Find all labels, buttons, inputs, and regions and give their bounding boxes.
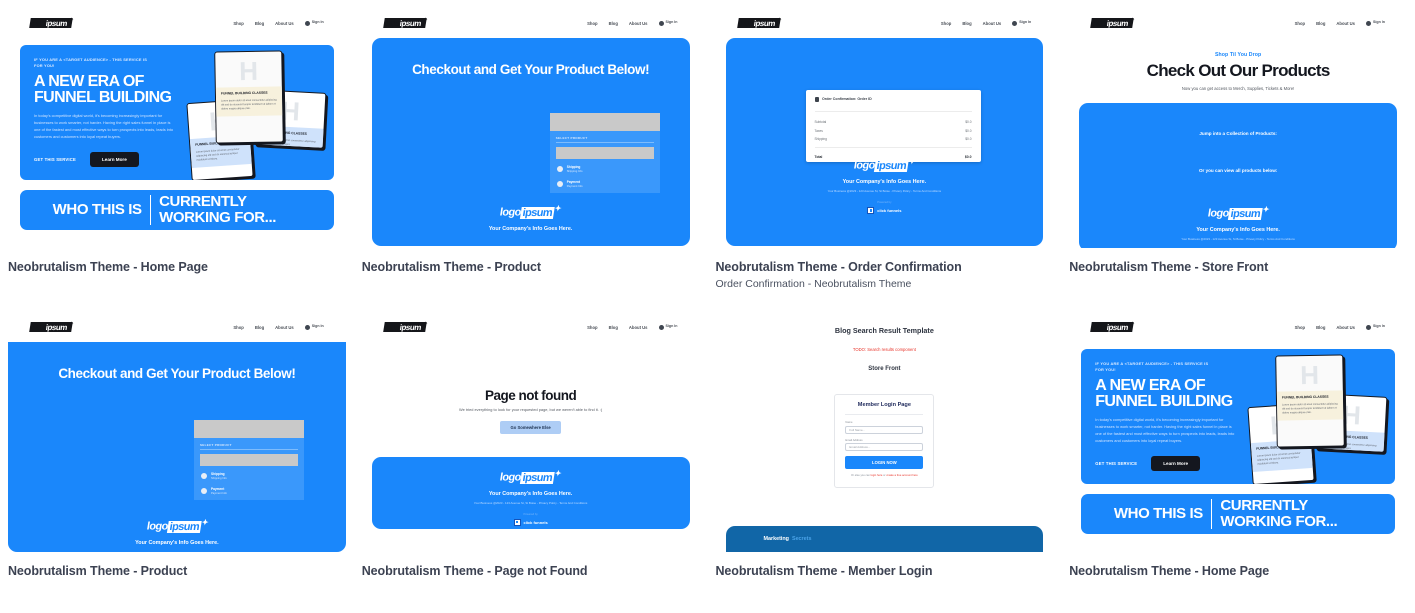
- nav-signin[interactable]: Sign In: [1366, 325, 1385, 330]
- mini-card-text: Lorem ipsum dolor sit amet consectetur a…: [221, 98, 277, 111]
- row-label: Shipping: [815, 137, 827, 141]
- store-eyebrow: Shop Til You Drop: [1069, 52, 1407, 58]
- footer-logo[interactable]: logoipsum✦: [726, 156, 1044, 174]
- logo-logoipsum[interactable]: logoipsum✦: [383, 322, 427, 332]
- footer-logo[interactable]: logoipsum✦: [1079, 204, 1397, 222]
- checkout-section: Checkout and Get Your Product Below! SEL…: [372, 38, 690, 246]
- product-select[interactable]: [200, 454, 298, 466]
- divider: [845, 414, 923, 415]
- nav-signin[interactable]: Sign In: [305, 21, 324, 26]
- band-left-text: WHO THIS IS: [1114, 506, 1211, 522]
- not-found-title: Page not found: [362, 388, 700, 403]
- user-icon: [659, 325, 664, 330]
- mini-card-text: Lorem ipsum dolor sit amet consectetur a…: [196, 147, 247, 162]
- nav-link-about-us[interactable]: About Us: [629, 21, 648, 26]
- checkout-step-payment[interactable]: Payment Payment Info: [201, 487, 304, 496]
- thumbnail-cell-page-not-found[interactable]: logoipsum✦ Shop Blog About Us Sign In: [354, 312, 708, 582]
- email-input[interactable]: Email Address...: [845, 443, 923, 451]
- footer-company-text: Your Company's Info Goes Here.: [372, 491, 690, 497]
- nav-link-blog[interactable]: Blog: [255, 21, 264, 26]
- mini-card-text: Lorem ipsum dolor sit amet consectetur a…: [1282, 402, 1338, 415]
- preview-store-front[interactable]: logoipsum✦ Shop Blog About Us Sign In: [1069, 8, 1407, 248]
- page-footer: logoipsum✦ Your Company's Info Goes Here…: [372, 457, 690, 529]
- mini-page: logoipsum✦ Shop Blog About Us Sign In: [8, 312, 346, 552]
- hero-cta-group: GET THIS SERVICE Learn More: [1095, 456, 1244, 471]
- receipt-icon: [815, 97, 820, 102]
- nav-link-blog[interactable]: Blog: [962, 21, 971, 26]
- user-icon: [1366, 325, 1371, 330]
- order-confirmation-section: Order Confirmation: Order ID Subtotal $0…: [726, 38, 1044, 246]
- table-row: Taxes $0.0: [815, 126, 972, 135]
- nav-link-blog[interactable]: Blog: [609, 325, 618, 330]
- powered-by-label: Powered by: [726, 201, 1044, 204]
- thumbnail-cell-member-login[interactable]: Blog Search Result Template TODO: Search…: [708, 312, 1062, 582]
- hero-copy: IF YOU ARE A <TARGET AUDIENCE> - THIS SE…: [1081, 349, 1244, 484]
- band-text-marketing: Marketing: [764, 536, 789, 542]
- nav-signin[interactable]: Sign In: [659, 21, 678, 26]
- band-left-text: WHO THIS IS: [53, 202, 150, 218]
- email-label: Email Address: [845, 439, 923, 442]
- row-label: Taxes: [815, 129, 823, 133]
- nav-link-blog[interactable]: Blog: [255, 325, 264, 330]
- caption-title: Neobrutalism Theme - Home Page: [8, 260, 346, 274]
- helper-pre: Or else you can: [851, 474, 871, 477]
- footer-legal-text: Your Business @2023 - 123 Avenue St, St …: [726, 189, 1044, 193]
- nav-signin-label: Sign In: [1373, 21, 1385, 25]
- thumbnail-cell-product-2[interactable]: logoipsum✦ Shop Blog About Us Sign In: [0, 312, 354, 582]
- store-products-section: Jump into a Collection of Products: Or y…: [1079, 103, 1397, 248]
- page-footer: logoipsum✦ Your Company's Info Goes Here…: [726, 156, 1044, 214]
- order-id-text: Order Confirmation: Order ID: [822, 97, 872, 101]
- nav-link-shop[interactable]: Shop: [1295, 21, 1305, 26]
- mini-card-title: FUNNEL BUILDING CLASSES: [1282, 395, 1338, 401]
- star-icon: ✦: [1262, 205, 1270, 214]
- preview-home-page-2[interactable]: logoipsum✦ Shop Blog About Us Sign In: [1069, 312, 1407, 552]
- clickfunnels-badge[interactable]: click funnels: [726, 207, 1044, 214]
- user-icon: [305, 21, 310, 26]
- caption-title: Neobrutalism Theme - Member Login: [716, 564, 1054, 578]
- create-account-link[interactable]: create a free account here: [886, 474, 917, 477]
- hero-copy: IF YOU ARE A <TARGET AUDIENCE> - THIS SE…: [20, 45, 183, 180]
- star-icon: ✦: [68, 322, 73, 328]
- learn-more-button[interactable]: Learn More: [90, 152, 139, 167]
- nav-link-about-us[interactable]: About Us: [1336, 325, 1355, 330]
- todo-note: TODO: Search results component: [716, 335, 1054, 352]
- member-login-title: Member Login Page: [845, 402, 923, 408]
- hero-body: In today's competitive digital world, it…: [34, 113, 174, 140]
- logo-logoipsum[interactable]: logoipsum✦: [737, 18, 781, 28]
- thumbnail-cell-home-page-1[interactable]: logoipsum✦ Shop Blog About Us Sign In: [0, 8, 354, 290]
- caption-title: Neobrutalism Theme - Page not Found: [362, 564, 700, 578]
- hero-eyebrow: IF YOU ARE A <TARGET AUDIENCE> - THIS SE…: [34, 57, 154, 69]
- nav-signin-label: Sign In: [312, 21, 324, 25]
- hero-section: IF YOU ARE A <TARGET AUDIENCE> - THIS SE…: [1081, 349, 1395, 484]
- table-row: Subtotal $0.0: [815, 118, 972, 127]
- star-icon: ✦: [68, 18, 73, 24]
- radio-icon[interactable]: [201, 488, 207, 494]
- divider: [200, 449, 298, 450]
- nav-links: Shop Blog About Us Sign In: [233, 21, 323, 26]
- mini-card-title: FUNNEL BUILDING CLASSES: [221, 91, 277, 97]
- site-navbar: logoipsum✦ Shop Blog About Us Sign In: [362, 312, 700, 342]
- order-summary-header: Order Confirmation: Order ID: [815, 97, 972, 102]
- nav-signin[interactable]: Sign In: [305, 325, 324, 330]
- row-label: Subtotal: [815, 120, 827, 124]
- row-value: $0.0: [965, 137, 971, 141]
- mini-card-body: FUNNEL BUILDING CLASSES Lorem ipsum dolo…: [216, 87, 282, 117]
- step-sub: Payment Info: [211, 492, 227, 496]
- hero-title: A NEW ERA OF FUNNEL BUILDING: [1095, 378, 1244, 411]
- clickfunnels-label: click funnels: [524, 520, 548, 525]
- nav-link-shop[interactable]: Shop: [233, 21, 243, 26]
- caption-title: Neobrutalism Theme - Order Confirmation: [716, 260, 1054, 274]
- get-this-service-link[interactable]: GET THIS SERVICE: [1095, 461, 1137, 466]
- star-icon: ✦: [908, 157, 916, 166]
- radio-icon[interactable]: [557, 181, 563, 187]
- logo-logoipsum[interactable]: logoipsum✦: [1090, 18, 1134, 28]
- radio-icon[interactable]: [557, 166, 563, 172]
- nav-link-shop[interactable]: Shop: [587, 21, 597, 26]
- step-text: Payment Payment Info: [567, 180, 583, 189]
- mini-page: logoipsum✦ Shop Blog About Us Sign In: [362, 8, 700, 248]
- footer-company-text: Your Company's Info Goes Here.: [372, 226, 690, 232]
- mini-page: logoipsum✦ Shop Blog About Us Sign In: [1069, 8, 1407, 248]
- blog-search-heading: Blog Search Result Template: [716, 312, 1054, 335]
- thumbnail-cell-product-1[interactable]: logoipsum✦ Shop Blog About Us Sign In: [354, 8, 708, 290]
- store-subtitle: Now you can get access to Merch, Supplie…: [1069, 86, 1407, 91]
- nav-links: Shop Blog About Us Sign In: [1295, 21, 1385, 26]
- nav-signin-label: Sign In: [312, 325, 324, 329]
- checkout-title: Checkout and Get Your Product Below!: [372, 38, 690, 77]
- thumbnail-cell-home-page-2[interactable]: logoipsum✦ Shop Blog About Us Sign In: [1061, 312, 1415, 582]
- mini-card: H FUNNEL BUILDING CLASSES Lorem ipsum do…: [214, 50, 284, 143]
- step-sub: Payment Info: [567, 185, 583, 189]
- caption-title: Neobrutalism Theme - Product: [8, 564, 346, 578]
- row-value: $0.0: [965, 120, 971, 124]
- nav-links: Shop Blog About Us Sign In: [233, 325, 323, 330]
- nav-signin-label: Sign In: [1373, 325, 1385, 329]
- marketing-secrets-band: Marketing Secrets: [726, 526, 1044, 552]
- page-footer: logoipsum✦ Your Company's Info Goes Here…: [8, 517, 346, 546]
- nav-links: Shop Blog About Us Sign In: [1295, 325, 1385, 330]
- nav-link-blog[interactable]: Blog: [609, 21, 618, 26]
- name-label: Name: [845, 421, 923, 424]
- logo-logoipsum[interactable]: logoipsum✦: [29, 18, 73, 28]
- nav-signin[interactable]: Sign In: [659, 325, 678, 330]
- thumbnail-row-1: logoipsum✦ Shop Blog About Us Sign In: [0, 8, 1415, 290]
- mini-page: logoipsum✦ Shop Blog About Us Sign In: [716, 8, 1054, 248]
- clickfunnels-icon: [514, 519, 521, 526]
- star-icon: ✦: [1129, 322, 1134, 328]
- star-icon: ✦: [422, 322, 427, 328]
- nav-signin-label: Sign In: [666, 325, 678, 329]
- step-text: Payment Payment Info: [211, 487, 227, 496]
- not-found-section: Page not found We tried everything to lo…: [362, 342, 700, 434]
- login-helper-text: Or else you can login here or create a f…: [845, 474, 923, 478]
- hero-artwork: H FUNNEL BUILDING CLASSES Lorem ipsum do…: [1244, 349, 1395, 484]
- logo-logoipsum[interactable]: logoipsum✦: [383, 18, 427, 28]
- preview-home-page-1[interactable]: logoipsum✦ Shop Blog About Us Sign In: [8, 8, 346, 248]
- thumbnail-grid: logoipsum✦ Shop Blog About Us Sign In: [0, 0, 1415, 613]
- mini-page: logoipsum✦ Shop Blog About Us Sign In: [8, 8, 346, 248]
- store-line-2: Or you can view all products below:: [1079, 136, 1397, 173]
- mini-page: Blog Search Result Template TODO: Search…: [716, 312, 1054, 552]
- nav-link-shop[interactable]: Shop: [941, 21, 951, 26]
- footer-company-text: Your Company's Info Goes Here.: [1079, 227, 1397, 233]
- nav-link-shop[interactable]: Shop: [1295, 325, 1305, 330]
- page-footer: logoipsum✦ Your Company's Info Goes Here…: [1079, 204, 1397, 241]
- checkout-step-shipping[interactable]: Shipping Shipping Info: [201, 472, 304, 481]
- user-icon: [659, 21, 664, 26]
- site-navbar: logoipsum✦ Shop Blog About Us Sign In: [8, 312, 346, 342]
- row-value: $0.0: [965, 129, 971, 133]
- band-right-text: CURRENTLY WORKING FOR...: [1212, 498, 1362, 530]
- footer-logo[interactable]: logoipsum✦: [8, 517, 346, 535]
- footer-company-text: Your Company's Info Goes Here.: [726, 179, 1044, 185]
- login-now-button[interactable]: LOGIN NOW: [845, 456, 923, 469]
- checkout-widget[interactable]: SELECT PRODUCT Shipping Shipping Info: [550, 113, 660, 193]
- mini-card-text: Lorem ipsum dolor sit amet consectetur a…: [1257, 451, 1308, 466]
- user-icon: [305, 325, 310, 330]
- nav-links: Shop Blog About Us Sign In: [587, 21, 677, 26]
- store-front-heading: Store Front: [716, 352, 1054, 372]
- select-product-label: SELECT PRODUCT: [550, 131, 660, 142]
- nav-link-about-us[interactable]: About Us: [1336, 21, 1355, 26]
- site-navbar: logoipsum✦ Shop Blog About Us Sign In: [716, 8, 1054, 38]
- hero-artwork: H FUNNEL BUILDING CLASSES Lorem ipsum do…: [183, 45, 334, 180]
- nav-signin-label: Sign In: [666, 21, 678, 25]
- radio-icon[interactable]: [201, 473, 207, 479]
- nav-signin[interactable]: Sign In: [1366, 21, 1385, 26]
- clickfunnels-badge[interactable]: click funnels: [372, 519, 690, 526]
- nav-link-about-us[interactable]: About Us: [275, 21, 294, 26]
- footer-logo[interactable]: logoipsum✦: [372, 203, 690, 221]
- nav-link-blog[interactable]: Blog: [1316, 325, 1325, 330]
- clickfunnels-icon: [867, 207, 874, 214]
- caption-sub: Order Confirmation - Neobrutalism Theme: [716, 278, 1054, 290]
- band-text-secrets: Secrets: [792, 536, 811, 542]
- band-right-text: CURRENTLY WORKING FOR...: [151, 194, 301, 226]
- product-image-placeholder: [194, 420, 304, 438]
- footer-legal-text: Your Business @2023 - 123 Avenue St, St …: [372, 501, 690, 505]
- divider: [815, 111, 972, 112]
- step-sub: Shipping Info: [567, 170, 583, 174]
- checkout-step-shipping[interactable]: Shipping Shipping Info: [557, 165, 660, 174]
- store-title: Check Out Our Products: [1069, 61, 1407, 81]
- not-found-sub: We tried everything to look for your req…: [362, 407, 700, 414]
- order-summary-card: Order Confirmation: Order ID Subtotal $0…: [806, 90, 981, 162]
- page-footer: logoipsum✦ Your Company's Info Goes Here…: [372, 203, 690, 232]
- learn-more-button[interactable]: Learn More: [1151, 456, 1200, 471]
- hero-title: A NEW ERA OF FUNNEL BUILDING: [34, 74, 183, 107]
- star-icon: ✦: [201, 518, 209, 527]
- user-icon: [1012, 21, 1017, 26]
- powered-by-label: Powered by: [372, 513, 690, 516]
- caption-title: Neobrutalism Theme - Home Page: [1069, 564, 1407, 578]
- site-navbar: logoipsum✦ Shop Blog About Us Sign In: [362, 8, 700, 38]
- nav-links: Shop Blog About Us Sign In: [941, 21, 1031, 26]
- nav-links: Shop Blog About Us Sign In: [587, 325, 677, 330]
- nav-link-shop[interactable]: Shop: [587, 325, 597, 330]
- preview-product-1[interactable]: logoipsum✦ Shop Blog About Us Sign In: [362, 8, 700, 248]
- go-somewhere-else-button[interactable]: Go Somewhere Else: [500, 421, 560, 434]
- footer-legal-text: Your Business @2023 - 123 Avenue St, St …: [1079, 237, 1397, 241]
- member-login-card: Member Login Page Name Full Name... Emai…: [834, 394, 934, 488]
- nav-link-shop[interactable]: Shop: [233, 325, 243, 330]
- user-icon: [1366, 21, 1371, 26]
- footer-logo[interactable]: logoipsum✦: [372, 468, 690, 486]
- checkout-widget[interactable]: SELECT PRODUCT Shipping Shipping Info: [194, 420, 304, 500]
- site-navbar: logoipsum✦ Shop Blog About Us Sign In: [1069, 312, 1407, 342]
- mini-card-body: FUNNEL BUILDING CLASSES Lorem ipsum dolo…: [1277, 391, 1343, 421]
- star-icon: ✦: [422, 18, 427, 24]
- star-icon: ✦: [775, 18, 780, 24]
- nav-signin[interactable]: Sign In: [1012, 21, 1031, 26]
- site-navbar: logoipsum✦ Shop Blog About Us Sign In: [1069, 8, 1407, 38]
- nav-link-about-us[interactable]: About Us: [629, 325, 648, 330]
- preview-member-login[interactable]: Blog Search Result Template TODO: Search…: [716, 312, 1054, 552]
- site-navbar: logoipsum✦ Shop Blog About Us Sign In: [8, 8, 346, 38]
- name-input[interactable]: Full Name...: [845, 426, 923, 434]
- star-icon: ✦: [1129, 18, 1134, 24]
- checkout-step-payment[interactable]: Payment Payment Info: [557, 180, 660, 189]
- store-line-1: Jump into a Collection of Products:: [1079, 103, 1397, 136]
- store-front-heading: Shop Til You Drop Check Out Our Products…: [1069, 38, 1407, 103]
- step-sub: Shipping Info: [211, 477, 227, 481]
- caption-title: Neobrutalism Theme - Product: [362, 260, 700, 274]
- thumbnail-cell-order-confirmation[interactable]: logoipsum✦ Shop Blog About Us Sign In: [708, 8, 1062, 290]
- watermark-letter: H: [1277, 359, 1344, 391]
- get-this-service-link[interactable]: GET THIS SERVICE: [34, 157, 76, 162]
- divider: [556, 142, 654, 143]
- logo-logoipsum[interactable]: logoipsum✦: [29, 322, 73, 332]
- step-text: Shipping Shipping Info: [567, 165, 583, 174]
- preview-product-2[interactable]: logoipsum✦ Shop Blog About Us Sign In: [8, 312, 346, 552]
- clickfunnels-label: click funnels: [877, 208, 901, 213]
- nav-link-about-us[interactable]: About Us: [983, 21, 1002, 26]
- footer-company-text: Your Company's Info Goes Here.: [8, 540, 346, 546]
- thumbnail-cell-store-front[interactable]: logoipsum✦ Shop Blog About Us Sign In: [1061, 8, 1415, 290]
- who-this-is-band: WHO THIS IS CURRENTLY WORKING FOR...: [1081, 494, 1395, 534]
- product-image-placeholder: [550, 113, 660, 131]
- hero-eyebrow: IF YOU ARE A <TARGET AUDIENCE> - THIS SE…: [1095, 361, 1215, 373]
- divider: [815, 147, 972, 148]
- nav-signin-label: Sign In: [1019, 21, 1031, 25]
- table-row: Shipping $0.0: [815, 135, 972, 144]
- mini-card: H FUNNEL BUILDING CLASSES Lorem ipsum do…: [1276, 354, 1346, 447]
- logo-logoipsum[interactable]: logoipsum✦: [1090, 322, 1134, 332]
- login-here-link[interactable]: login here: [871, 474, 883, 477]
- thumbnail-row-2: logoipsum✦ Shop Blog About Us Sign In: [0, 312, 1415, 582]
- checkout-section: Checkout and Get Your Product Below! SEL…: [8, 342, 346, 552]
- who-this-is-band: WHO THIS IS CURRENTLY WORKING FOR...: [20, 190, 334, 230]
- step-text: Shipping Shipping Info: [211, 472, 227, 481]
- preview-order-confirmation[interactable]: logoipsum✦ Shop Blog About Us Sign In: [716, 8, 1054, 248]
- mini-page: logoipsum✦ Shop Blog About Us Sign In: [1069, 312, 1407, 552]
- hero-cta-group: GET THIS SERVICE Learn More: [34, 152, 183, 167]
- hero-body: In today's competitive digital world, it…: [1095, 417, 1235, 444]
- hero-section: IF YOU ARE A <TARGET AUDIENCE> - THIS SE…: [20, 45, 334, 180]
- star-icon: ✦: [555, 469, 563, 478]
- checkout-title: Checkout and Get Your Product Below!: [8, 342, 346, 381]
- select-product-label: SELECT PRODUCT: [194, 438, 304, 449]
- nav-link-blog[interactable]: Blog: [1316, 21, 1325, 26]
- product-select[interactable]: [556, 147, 654, 159]
- mini-page: logoipsum✦ Shop Blog About Us Sign In: [362, 312, 700, 552]
- nav-link-about-us[interactable]: About Us: [275, 325, 294, 330]
- star-icon: ✦: [555, 204, 563, 213]
- watermark-letter: H: [215, 55, 282, 87]
- caption-title: Neobrutalism Theme - Store Front: [1069, 260, 1407, 274]
- preview-page-not-found[interactable]: logoipsum✦ Shop Blog About Us Sign In: [362, 312, 700, 552]
